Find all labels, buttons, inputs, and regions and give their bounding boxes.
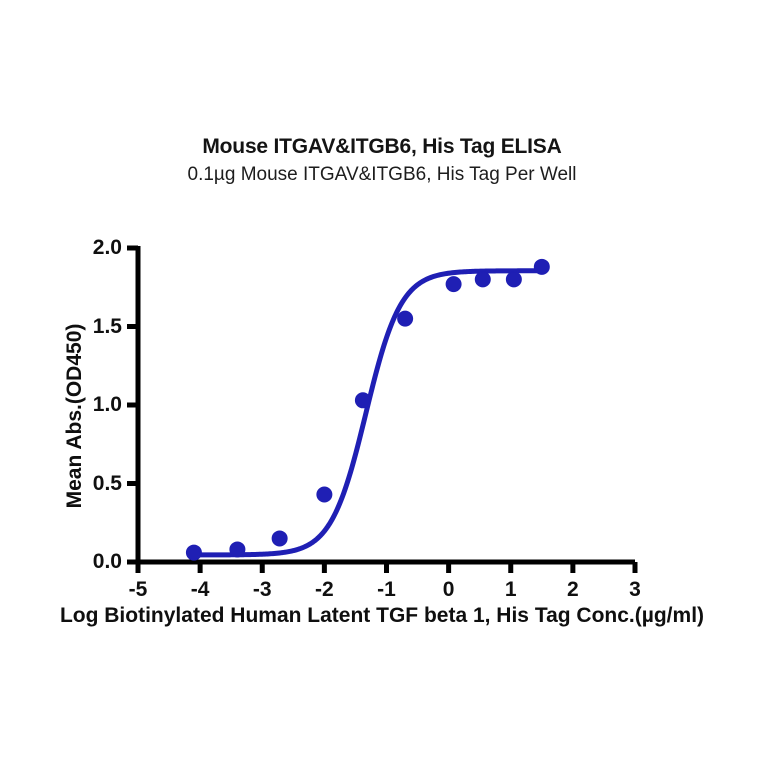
data-point xyxy=(506,272,521,287)
data-point xyxy=(446,277,461,292)
x-tick-label: 1 xyxy=(505,578,517,602)
data-point xyxy=(272,531,287,546)
x-tick-label: -2 xyxy=(315,578,334,602)
chart-figure: Mouse ITGAV&ITGB6, His Tag ELISA 0.1µg M… xyxy=(0,0,764,764)
x-tick-label: 3 xyxy=(629,578,641,602)
data-point xyxy=(230,542,245,557)
data-point xyxy=(398,311,413,326)
sigmoid-curve xyxy=(194,271,542,555)
x-axis-label: Log Biotinylated Human Latent TGF beta 1… xyxy=(0,604,764,628)
y-tick-label: 0.0 xyxy=(60,550,122,574)
axes-spines xyxy=(136,246,635,562)
title-block: Mouse ITGAV&ITGB6, His Tag ELISA 0.1µg M… xyxy=(0,134,764,187)
x-tick-label: -5 xyxy=(129,578,148,602)
x-tick-label: -1 xyxy=(377,578,396,602)
y-tick-label: 1.5 xyxy=(60,315,122,339)
y-tick-label: 2.0 xyxy=(60,236,122,260)
x-tick-label: 0 xyxy=(443,578,455,602)
y-tick-label: 0.5 xyxy=(60,472,122,496)
data-point xyxy=(475,272,490,287)
chart-title: Mouse ITGAV&ITGB6, His Tag ELISA xyxy=(0,134,764,160)
x-tick-label: -3 xyxy=(253,578,272,602)
data-point xyxy=(355,393,370,408)
x-tick-label: -4 xyxy=(191,578,210,602)
y-tick-label: 1.0 xyxy=(60,393,122,417)
chart-subtitle: 0.1µg Mouse ITGAV&ITGB6, His Tag Per Wel… xyxy=(0,162,764,187)
data-point xyxy=(186,545,201,560)
data-point xyxy=(317,487,332,502)
fit-curve xyxy=(194,271,542,555)
axis-ticks xyxy=(127,248,635,573)
plot-area xyxy=(0,0,764,764)
data-point xyxy=(534,259,549,274)
x-tick-label: 2 xyxy=(567,578,579,602)
